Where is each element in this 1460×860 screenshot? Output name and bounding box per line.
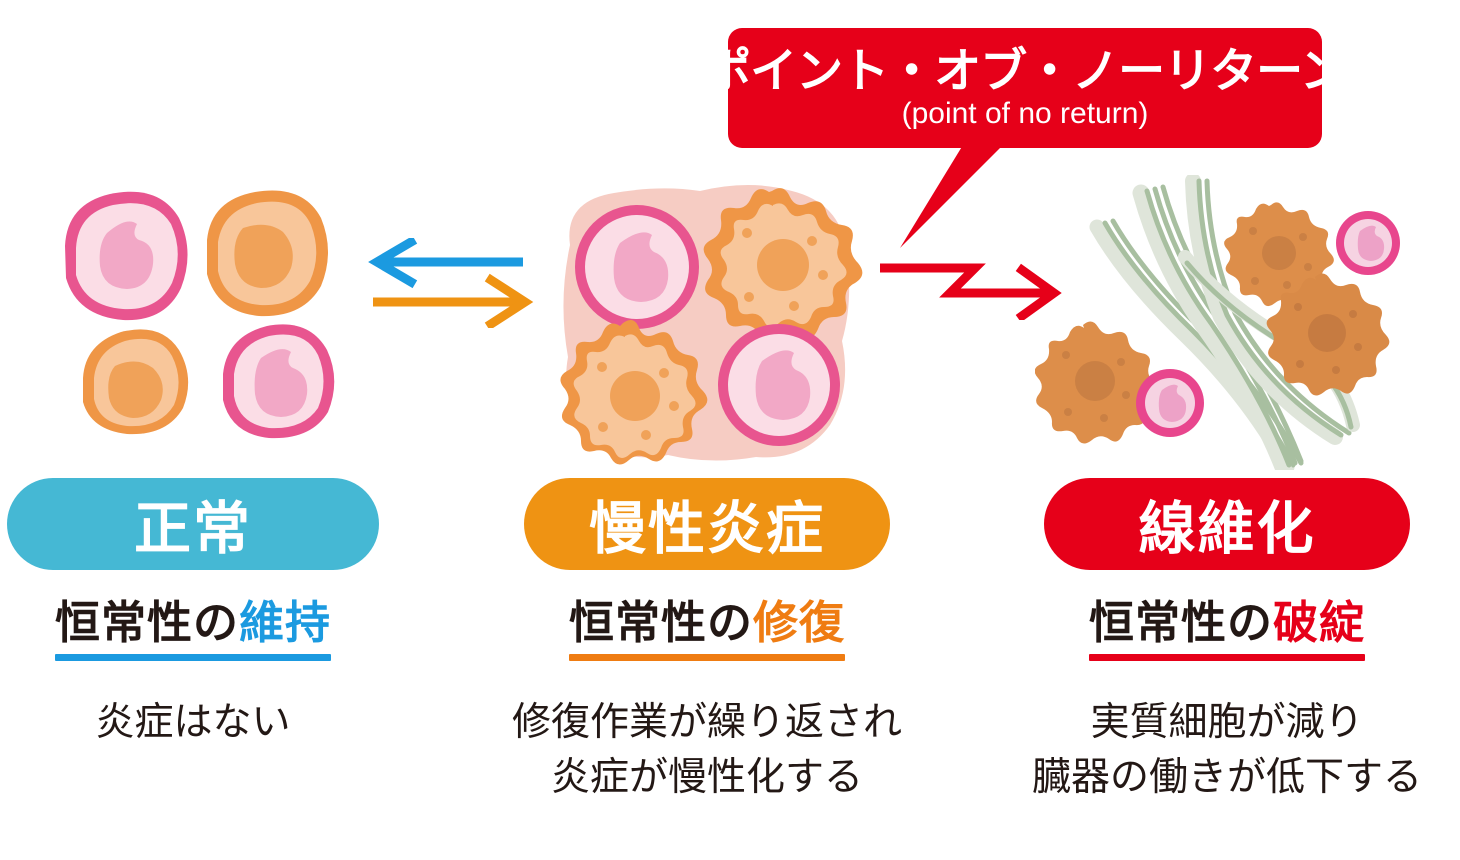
subtitle-underline xyxy=(1089,654,1365,661)
stage-column-normal: 正常 恒常性の維持 炎症はない xyxy=(0,478,428,750)
subtitle-block: 恒常性の修復 xyxy=(569,600,845,661)
stage-pill-normal[interactable]: 正常 xyxy=(7,478,379,570)
pink-cell xyxy=(575,205,699,329)
subtitle-block: 恒常性の維持 xyxy=(55,600,331,661)
subtitle-fibrosis: 恒常性の破綻 xyxy=(1089,600,1365,645)
subtitle-underline xyxy=(55,654,331,661)
pink-cell xyxy=(1136,369,1204,437)
stage-pill-label: 慢性炎症 xyxy=(589,483,825,565)
subtitle-accent: 維持 xyxy=(239,597,331,648)
subtitle-plain: 恒常性の xyxy=(569,597,753,648)
pink-cell xyxy=(223,324,334,438)
subtitle-underline xyxy=(569,654,845,661)
orange-cell xyxy=(83,329,188,434)
description-fibrosis: 実質細胞が減り 臓器の働きが低下する xyxy=(1032,695,1422,806)
subtitle-normal: 恒常性の維持 xyxy=(55,600,331,645)
stage-pill-label: 正常 xyxy=(134,483,252,565)
description-chronic-inflammation: 修復作業が繰り返され 炎症が慢性化する xyxy=(512,695,902,806)
point-of-no-return-callout: ポイント・オブ・ノーリターン (point of no return) xyxy=(728,28,1322,148)
callout-title-en: (point of no return) xyxy=(902,97,1149,130)
subtitle-accent: 修復 xyxy=(753,597,845,648)
stage-column-fibrosis: 線維化 恒常性の破綻 実質細胞が減り 臓器の働きが低下する xyxy=(992,478,1460,806)
activated-star-cell xyxy=(1035,321,1157,443)
callout-box: ポイント・オブ・ノーリターン (point of no return) xyxy=(728,28,1322,148)
progress-arrow-icon xyxy=(373,280,525,324)
chronic-inflammation-illustration xyxy=(540,175,870,465)
pink-cell xyxy=(1336,211,1400,275)
fibrosis-illustration xyxy=(1035,175,1410,470)
stage-pill-fibrosis[interactable]: 線維化 xyxy=(1044,478,1410,570)
callout-tail xyxy=(888,140,1008,250)
stage-pill-chronic-inflammation[interactable]: 慢性炎症 xyxy=(524,478,890,570)
callout-title-jp: ポイント・オブ・ノーリターン xyxy=(704,46,1346,95)
subtitle-block: 恒常性の破綻 xyxy=(1089,600,1365,661)
subtitle-chronic-inflammation: 恒常性の修復 xyxy=(569,600,845,645)
pink-cell xyxy=(65,192,188,320)
subtitle-plain: 恒常性の xyxy=(55,597,239,648)
subtitle-plain: 恒常性の xyxy=(1089,597,1273,648)
subtitle-accent: 破綻 xyxy=(1273,597,1365,648)
description-normal: 炎症はない xyxy=(95,695,290,750)
orange-cell xyxy=(207,190,328,316)
reverse-arrow-icon xyxy=(377,242,523,282)
pink-cell xyxy=(718,324,840,446)
stage-column-chronic-inflammation: 慢性炎症 恒常性の修復 修復作業が繰り返され 炎症が慢性化する xyxy=(472,478,942,806)
bidirectional-arrows xyxy=(355,238,555,328)
normal-tissue-illustration xyxy=(55,178,355,443)
stage-pill-label: 線維化 xyxy=(1139,483,1316,565)
